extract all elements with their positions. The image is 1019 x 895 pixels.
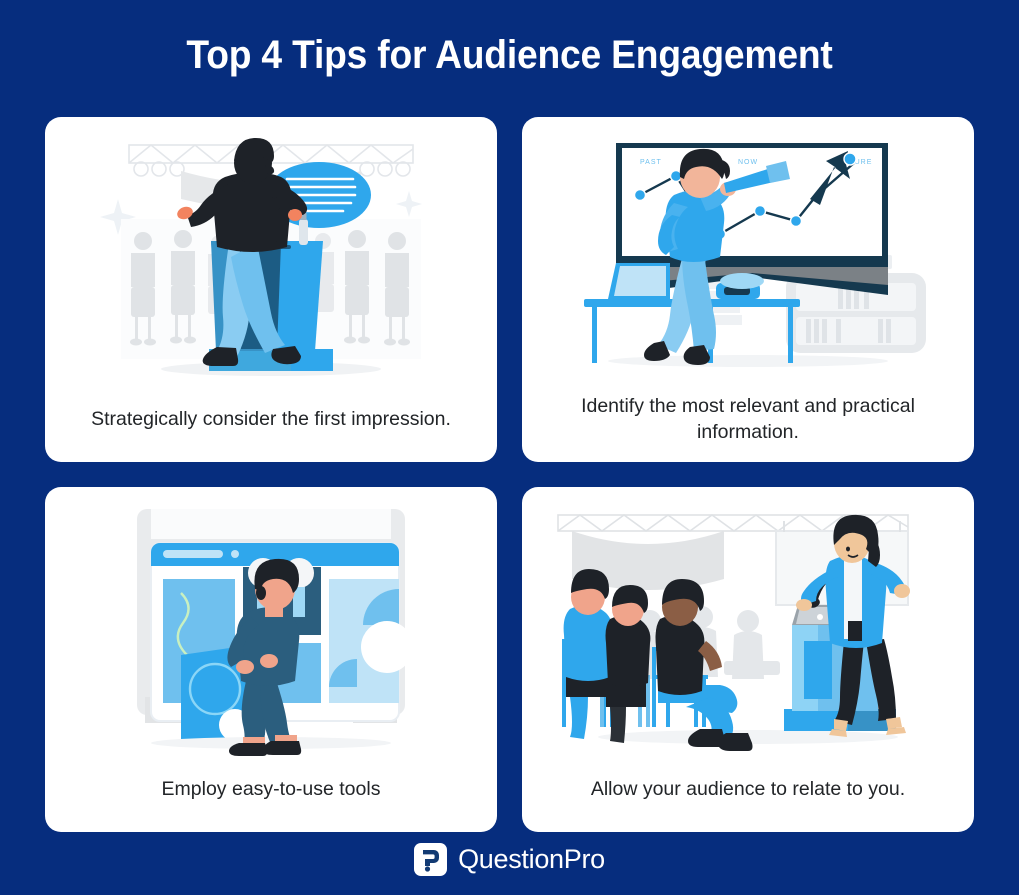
illustration-telescope-chart: PAST NOW FUTURE [536, 129, 960, 387]
brand-name: QuestionPro [458, 844, 605, 875]
brand-logo[interactable]: QuestionPro [0, 843, 1019, 876]
svg-text:NOW: NOW [738, 159, 758, 166]
questionpro-mark-icon [414, 843, 447, 876]
svg-text:PAST: PAST [640, 159, 662, 166]
tip-card-4[interactable]: Allow your audience to relate to you. [522, 487, 974, 832]
page-title: Top 4 Tips for Audience Engagement [36, 33, 984, 78]
tip-caption-4: Allow your audience to relate to you. [581, 757, 915, 822]
infographic-page: Top 4 Tips for Audience Engagement [0, 0, 1019, 895]
tips-grid: Strategically consider the first impress… [45, 117, 974, 832]
tip-caption-3: Employ easy-to-use tools [152, 757, 391, 822]
address-bar [163, 550, 223, 558]
tip-caption-2: Identify the most relevant and practical… [536, 387, 960, 452]
tip-card-3[interactable]: Employ easy-to-use tools [45, 487, 497, 832]
tip-caption-1: Strategically consider the first impress… [81, 387, 461, 452]
illustration-speaker-podium [59, 129, 483, 387]
illustration-ui-tools [59, 499, 483, 757]
tip-card-1[interactable]: Strategically consider the first impress… [45, 117, 497, 462]
illustration-presenter-audience [536, 499, 960, 757]
tip-card-2[interactable]: PAST NOW FUTURE [522, 117, 974, 462]
